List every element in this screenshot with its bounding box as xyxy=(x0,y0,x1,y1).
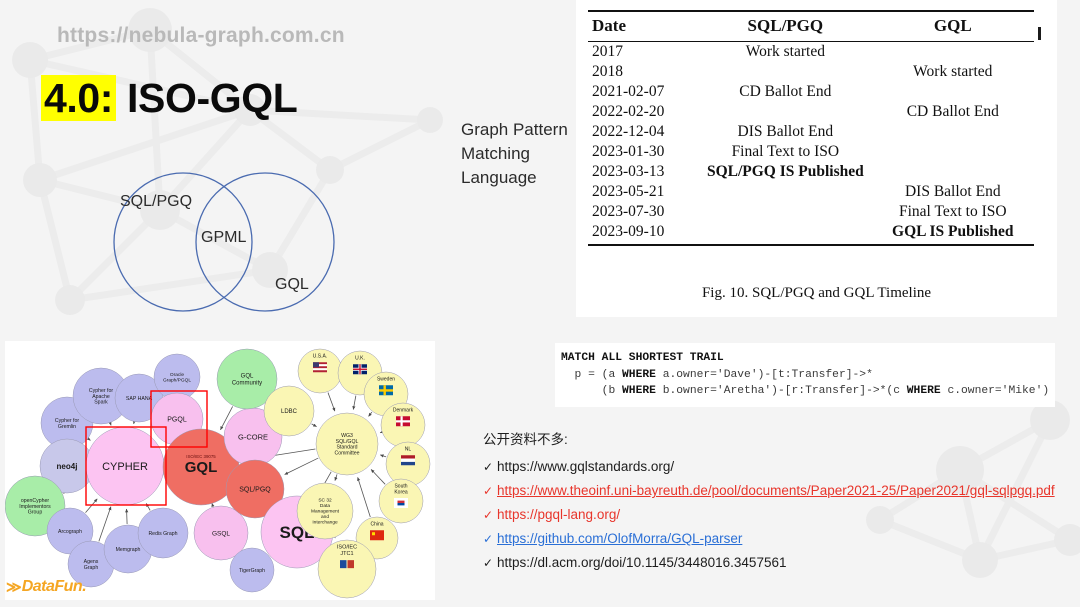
list-item[interactable]: ✓https://dl.acm.org/doi/10.1145/3448016.… xyxy=(483,555,1073,570)
graph-edge xyxy=(312,424,317,427)
svg-text:ISO/IEC: ISO/IEC xyxy=(337,545,357,551)
cell-sqlpgq xyxy=(699,222,871,245)
svg-text:Spark: Spark xyxy=(94,400,108,406)
link-text[interactable]: https://pgql-lang.org/ xyxy=(497,507,620,522)
graph-edge xyxy=(335,474,337,480)
svg-text:Graph/PGQL: Graph/PGQL xyxy=(163,377,191,383)
cell-gql xyxy=(872,82,1034,102)
cell-date: 2022-02-20 xyxy=(588,102,699,122)
table-row: 2022-02-20CD Ballot End xyxy=(588,102,1034,122)
cell-gql xyxy=(872,162,1034,182)
graph-node: Denmark xyxy=(381,403,425,447)
cell-gql xyxy=(872,42,1034,63)
graph-node: Redis Graph xyxy=(138,508,188,558)
links-list: ✓https://www.gqlstandards.org/✓https://w… xyxy=(483,459,1073,570)
graph-node: WG3SQL/GQLStandardCommittee xyxy=(316,413,378,475)
graph-edge xyxy=(353,396,356,410)
cell-sqlpgq xyxy=(699,202,871,222)
graph-nodes: Cypher forGremlinCypher forApacheSparkSA… xyxy=(5,349,430,598)
table-row: 2023-05-21DIS Ballot End xyxy=(588,182,1034,202)
code-line-3-end: c.owner='Mike') xyxy=(941,385,1049,397)
flag-icon xyxy=(401,455,415,465)
svg-text:China: China xyxy=(370,522,383,528)
flag-icon xyxy=(379,385,393,395)
table-row: 2023-03-13SQL/PGQ IS Published xyxy=(588,162,1034,182)
cell-gql: CD Ballot End xyxy=(872,102,1034,122)
table-header-row: Date SQL/PGQ GQL xyxy=(588,11,1034,42)
code-line-1: MATCH ALL SHORTEST TRAIL xyxy=(561,352,724,364)
svg-text:Memgraph: Memgraph xyxy=(116,547,141,553)
cell-gql xyxy=(872,122,1034,142)
graph-ecosystem-card: Cypher forGremlinCypher forApacheSparkSA… xyxy=(5,341,435,600)
gpml-caption: Graph Pattern Matching Language xyxy=(461,118,571,190)
table-row: 2017Work started xyxy=(588,42,1034,63)
svg-text:LDBC: LDBC xyxy=(281,409,298,415)
table-row: 2021-02-07CD Ballot End xyxy=(588,82,1034,102)
graph-edge xyxy=(110,423,111,425)
graph-node: SC 32DataManagementandInterchange xyxy=(297,483,353,539)
graph-node: NL xyxy=(386,442,430,486)
figure-caption: Fig. 10. SQL/PGQ and GQL Timeline xyxy=(576,285,1057,302)
list-item[interactable]: ✓https://github.com/OlofMorra/GQL-parser xyxy=(483,531,1073,546)
list-item[interactable]: ✓https://www.gqlstandards.org/ xyxy=(483,459,1073,474)
cell-date: 2023-03-13 xyxy=(588,162,699,182)
svg-text:GQL: GQL xyxy=(185,459,218,476)
svg-text:G-CORE: G-CORE xyxy=(238,433,268,442)
svg-text:CYPHER: CYPHER xyxy=(102,461,148,473)
svg-text:Redis Graph: Redis Graph xyxy=(148,531,177,537)
graph-node: TigerGraph xyxy=(230,548,274,592)
table-row: 2023-09-10GQL IS Published xyxy=(588,222,1034,245)
graph-edge xyxy=(371,469,385,484)
svg-text:Graph: Graph xyxy=(84,565,99,571)
code-kw-where-3: WHERE xyxy=(907,385,941,397)
check-icon: ✓ xyxy=(483,485,497,497)
gql-code-card: MATCH ALL SHORTEST TRAIL p = (a WHERE a.… xyxy=(555,343,1055,407)
timeline-table-body: 2017Work started2018Work started2021-02-… xyxy=(588,42,1034,246)
timeline-table-card: Date SQL/PGQ GQL 2017Work started2018Wor… xyxy=(576,0,1057,317)
cell-gql: GQL IS Published xyxy=(872,222,1034,245)
svg-text:GSQL: GSQL xyxy=(212,530,230,537)
table-row: 2023-01-30Final Text to ISO xyxy=(588,142,1034,162)
cell-sqlpgq: SQL/PGQ IS Published xyxy=(699,162,871,182)
slide-root: https://nebula-graph.com.cn 4.0: ISO-GQL… xyxy=(0,0,1080,607)
check-icon: ✓ xyxy=(483,557,497,569)
graph-node: U.S.A. xyxy=(298,349,342,393)
cell-sqlpgq xyxy=(699,102,871,122)
flag-icon xyxy=(396,416,410,426)
column-header-date: Date xyxy=(588,11,699,42)
link-text[interactable]: https://dl.acm.org/doi/10.1145/3448016.3… xyxy=(497,555,786,570)
svg-text:Denmark: Denmark xyxy=(393,408,414,414)
resource-links: 公开资料不多: ✓https://www.gqlstandards.org/✓h… xyxy=(483,428,1073,579)
svg-text:PGQL: PGQL xyxy=(167,416,187,423)
cell-sqlpgq: Work started xyxy=(699,42,871,63)
graph-edge xyxy=(86,499,98,513)
svg-text:U.S.A.: U.S.A. xyxy=(313,354,327,360)
cell-sqlpgq: Final Text to ISO xyxy=(699,142,871,162)
svg-text:neo4j: neo4j xyxy=(57,462,78,471)
link-text[interactable]: https://github.com/OlofMorra/GQL-parser xyxy=(497,531,742,546)
cell-gql: DIS Ballot End xyxy=(872,182,1034,202)
svg-text:TigerGraph: TigerGraph xyxy=(239,568,265,574)
graph-edge xyxy=(285,458,319,474)
svg-text:GQL: GQL xyxy=(241,374,254,380)
column-header-sqlpgq: SQL/PGQ xyxy=(699,11,871,42)
title-version-highlight: 4.0: xyxy=(41,75,116,121)
cell-date: 2023-01-30 xyxy=(588,142,699,162)
svg-text:SAP HANA: SAP HANA xyxy=(126,396,153,402)
graph-edge xyxy=(328,393,335,412)
venn-label-gql: GQL xyxy=(275,276,309,294)
svg-text:SQL/PGQ: SQL/PGQ xyxy=(239,486,271,493)
title-text: ISO-GQL xyxy=(116,75,297,121)
cell-date: 2018 xyxy=(588,62,699,82)
svg-text:U.K.: U.K. xyxy=(355,356,365,362)
svg-text:JTC1: JTC1 xyxy=(340,551,353,557)
graph-ecosystem-diagram: Cypher forGremlinCypher forApacheSparkSA… xyxy=(5,341,435,600)
cell-gql: Final Text to ISO xyxy=(872,202,1034,222)
datafun-mark-icon: ≫ xyxy=(6,578,21,596)
cell-gql xyxy=(872,142,1034,162)
code-line-2-mid: a.owner='Dave')-[t:Transfer]->* xyxy=(656,369,873,381)
graph-edge xyxy=(127,509,128,524)
flag-icon xyxy=(370,530,384,540)
svg-text:NL: NL xyxy=(405,447,412,453)
timeline-table: Date SQL/PGQ GQL 2017Work started2018Wor… xyxy=(588,10,1034,246)
graph-edge xyxy=(358,477,371,517)
flag-icon xyxy=(353,364,367,374)
links-intro: 公开资料不多: xyxy=(483,428,1073,448)
code-line-3-pre: (b xyxy=(561,385,622,397)
check-icon: ✓ xyxy=(483,461,497,473)
svg-text:and: and xyxy=(321,514,329,520)
graph-node: CYPHER xyxy=(86,427,164,505)
cell-sqlpgq: CD Ballot End xyxy=(699,82,871,102)
column-header-gql: GQL xyxy=(872,11,1034,42)
venn-label-sqlpgq: SQL/PGQ xyxy=(120,193,192,211)
code-line-3-mid: b.owner='Aretha')-[r:Transfer]->*(c xyxy=(656,385,907,397)
svg-text:Data: Data xyxy=(320,503,330,509)
flag-icon xyxy=(313,362,327,372)
code-kw-where-2: WHERE xyxy=(622,385,656,397)
flag-icon xyxy=(394,498,408,508)
table-row: 2022-12-04DIS Ballot End xyxy=(588,122,1034,142)
graph-edge xyxy=(89,439,91,440)
code-line-2-pre: p = (a xyxy=(561,369,622,381)
graph-node: SouthKorea xyxy=(379,479,423,523)
table-row: 2018Work started xyxy=(588,62,1034,82)
cell-date: 2023-09-10 xyxy=(588,222,699,245)
cell-gql: Work started xyxy=(872,62,1034,82)
link-text[interactable]: https://www.gqlstandards.org/ xyxy=(497,459,674,474)
code-kw-where-1: WHERE xyxy=(622,369,656,381)
svg-text:Sweden: Sweden xyxy=(377,377,395,383)
svg-text:Community: Community xyxy=(232,381,262,387)
graph-edge xyxy=(369,412,372,416)
svg-text:Management: Management xyxy=(311,509,340,515)
list-item[interactable]: ✓https://pgql-lang.org/ xyxy=(483,507,1073,522)
cell-date: 2022-12-04 xyxy=(588,122,699,142)
graph-node: ISO/IECJTC1 xyxy=(318,540,376,598)
cell-date: 2023-07-30 xyxy=(588,202,699,222)
cell-sqlpgq xyxy=(699,182,871,202)
table-row: 2023-07-30Final Text to ISO xyxy=(588,202,1034,222)
cell-date: 2023-05-21 xyxy=(588,182,699,202)
graph-edge xyxy=(380,455,386,457)
check-icon: ✓ xyxy=(483,509,497,521)
svg-text:Arcograph: Arcograph xyxy=(58,529,82,535)
cell-date: 2021-02-07 xyxy=(588,82,699,102)
list-item[interactable]: ✓https://www.theoinf.uni-bayreuth.de/poo… xyxy=(483,483,1073,498)
svg-text:SC 32: SC 32 xyxy=(318,498,332,504)
site-url: https://nebula-graph.com.cn xyxy=(57,24,345,48)
page-edge-marker xyxy=(1038,27,1041,40)
datafun-logo: ≫ DataFun. xyxy=(6,578,86,596)
link-text[interactable]: https://www.theoinf.uni-bayreuth.de/pool… xyxy=(497,483,1055,498)
cell-sqlpgq xyxy=(699,62,871,82)
svg-text:Korea: Korea xyxy=(394,489,408,495)
venn-diagram: SQL/PGQ GPML GQL xyxy=(95,165,365,320)
svg-text:Committee: Committee xyxy=(334,451,359,457)
check-icon: ✓ xyxy=(483,533,497,545)
svg-text:Group: Group xyxy=(28,510,43,516)
page-title: 4.0: ISO-GQL xyxy=(41,75,297,122)
cell-sqlpgq: DIS Ballot End xyxy=(699,122,871,142)
svg-text:Oracle: Oracle xyxy=(170,372,184,378)
datafun-wordmark: DataFun. xyxy=(22,578,86,596)
cell-date: 2017 xyxy=(588,42,699,63)
gql-code-snippet: MATCH ALL SHORTEST TRAIL p = (a WHERE a.… xyxy=(555,343,1055,400)
graph-node: LDBC xyxy=(264,386,314,436)
venn-label-gpml: GPML xyxy=(201,229,246,247)
svg-text:Gremlin: Gremlin xyxy=(58,424,76,430)
svg-text:Interchange: Interchange xyxy=(312,520,338,526)
